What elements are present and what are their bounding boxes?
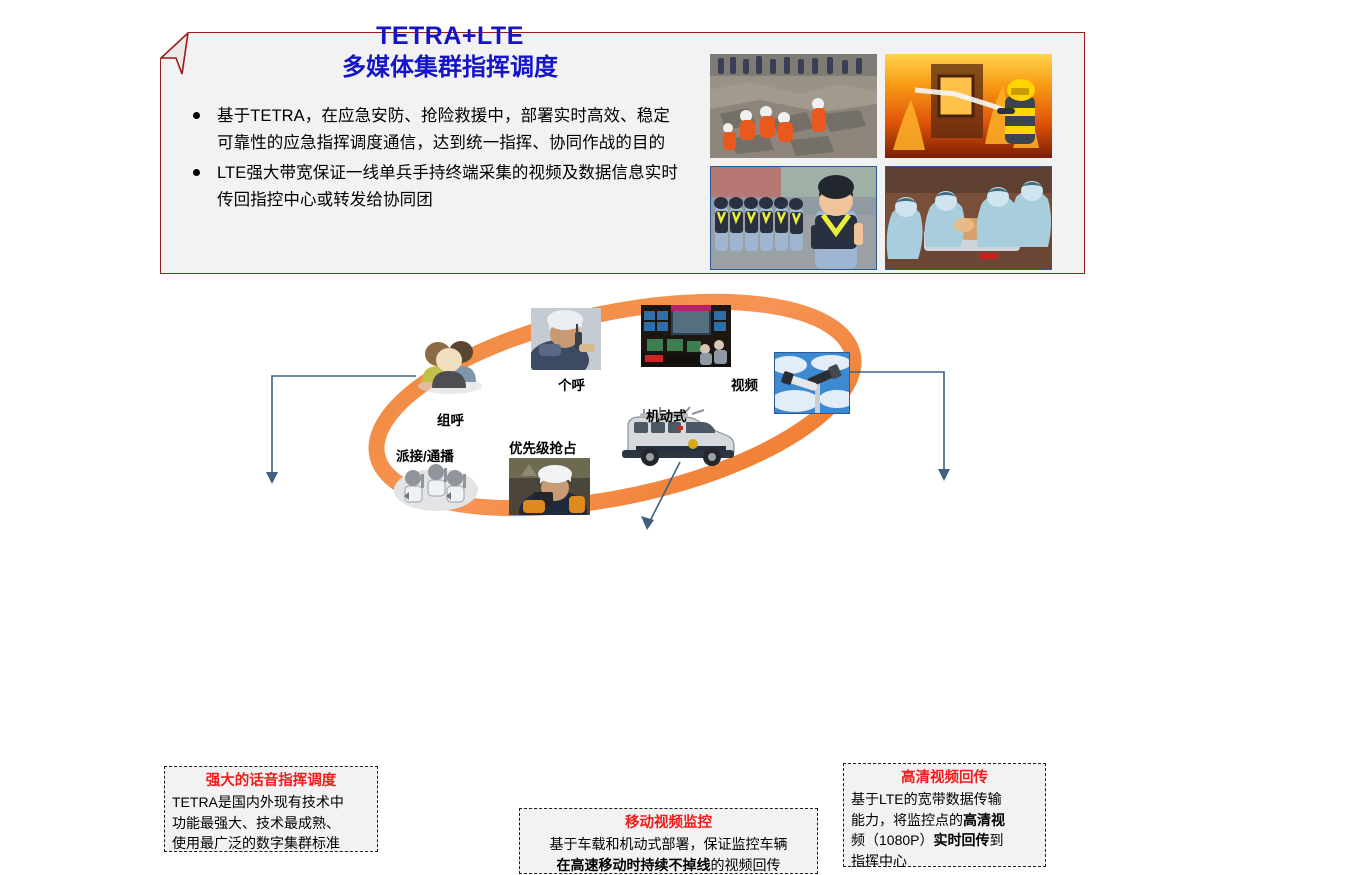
network-topology-diagram: 个呼 组呼 派接/通播 优先级抢占 机动式 视频 强大的话音指挥调度 TETRA…	[0, 280, 1358, 678]
bullet-text: 基于TETRA，在应急安防、抢险救援中，部署实时高效、稳定可靠性的应急指挥调度通…	[217, 103, 685, 157]
individual-call-label: 个呼	[558, 374, 585, 394]
dispatch-broadcast-label: 派接/通播	[396, 445, 454, 465]
bullet-item: 基于TETRA，在应急安防、抢险救援中，部署实时高效、稳定可靠性的应急指挥调度通…	[185, 103, 685, 157]
control-room-photo	[641, 305, 731, 367]
engineer-tablet-photo	[509, 458, 590, 515]
callout-body: TETRA是国内外现有技术中功能最强大、技术最成熟、使用最广泛的数字集群标准	[172, 792, 370, 854]
group-call-label: 组呼	[437, 409, 464, 429]
police-formation-photo	[710, 166, 877, 270]
earthquake-rescue-photo	[710, 54, 877, 158]
worker-radio-photo	[531, 308, 601, 370]
radio-cluster-icon	[393, 460, 479, 512]
callout-title: 强大的话音指挥调度	[172, 771, 370, 791]
voice-dispatch-callout[interactable]: 强大的话音指挥调度 TETRA是国内外现有技术中功能最强大、技术最成熟、使用最广…	[164, 766, 378, 852]
mobile-label: 机动式	[646, 405, 687, 425]
callout-body: 基于LTE的宽带数据传输能力，将监控点的高清视频（1080P）实时回传到指挥中心	[851, 789, 1038, 871]
hd-video-backhaul-callout[interactable]: 高清视频回传 基于LTE的宽带数据传输能力，将监控点的高清视频（1080P）实时…	[843, 763, 1046, 867]
page-title-en: TETRA+LTE	[190, 20, 710, 52]
callout-title: 移动视频监控	[527, 813, 810, 833]
page-title-cn: 多媒体集群指挥调度	[190, 52, 710, 84]
bullet-item: LTE强大带宽保证一线单兵手持终端采集的视频及数据信息实时传回指控中心或转发给协…	[185, 160, 685, 214]
bullet-dot-icon	[193, 112, 200, 119]
ptz-camera-photo	[774, 352, 850, 414]
callout-title: 高清视频回传	[851, 768, 1038, 788]
priority-preemption-label: 优先级抢占	[509, 437, 577, 457]
header-bullet-list: 基于TETRA，在应急安防、抢险救援中，部署实时高效、稳定可靠性的应急指挥调度通…	[185, 103, 685, 217]
bullet-text: LTE强大带宽保证一线单兵手持终端采集的视频及数据信息实时传回指控中心或转发给协…	[217, 160, 685, 214]
people-group-icon	[414, 340, 486, 394]
bullet-dot-icon	[193, 169, 200, 176]
medical-rescue-photo	[885, 166, 1052, 270]
video-label: 视频	[731, 374, 758, 394]
firefighting-photo	[885, 54, 1052, 158]
slide-canvas: TETRA+LTE 多媒体集群指挥调度 基于TETRA，在应急安防、抢险救援中，…	[0, 0, 1358, 678]
callout-body: 基于车载和机动式部署，保证监控车辆在高速移动时持续不掉线的视频回传	[527, 834, 810, 875]
mobile-video-surveillance-callout[interactable]: 移动视频监控 基于车载和机动式部署，保证监控车辆在高速移动时持续不掉线的视频回传	[519, 808, 818, 874]
header-title-block: TETRA+LTE 多媒体集群指挥调度	[190, 20, 710, 84]
